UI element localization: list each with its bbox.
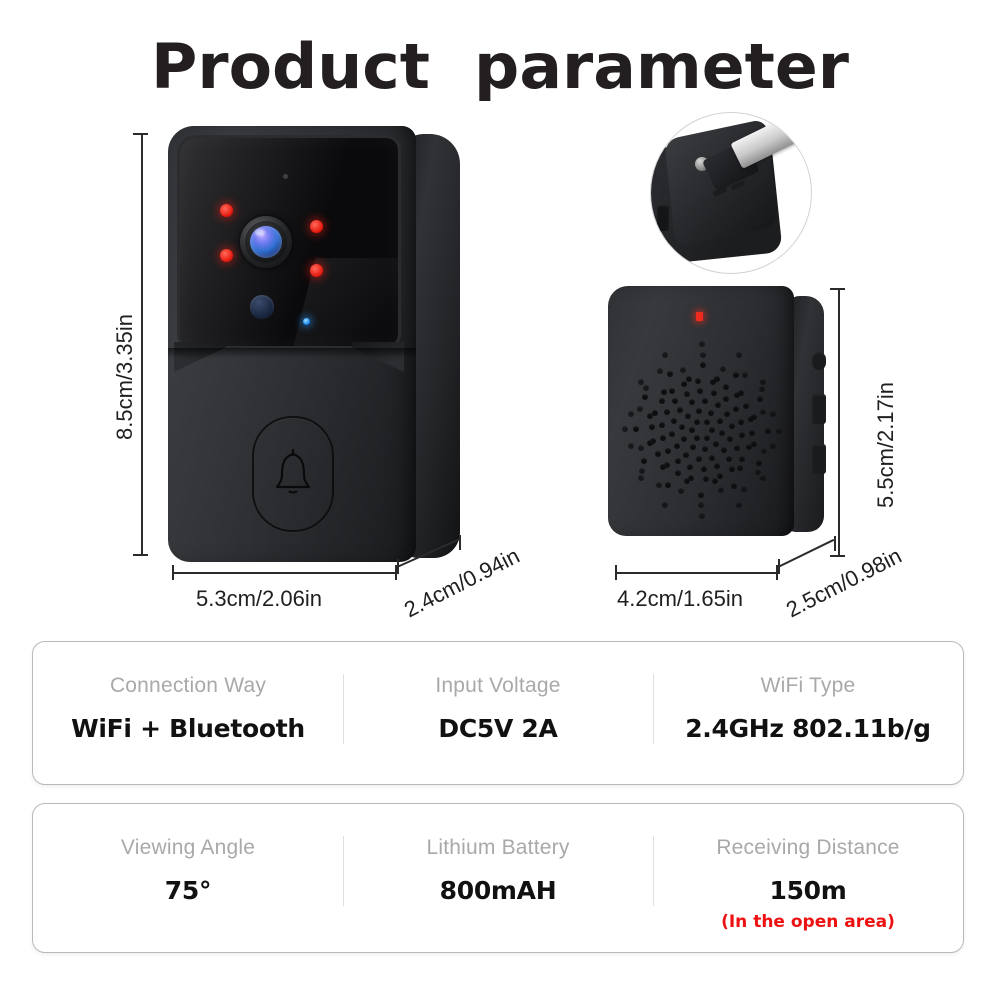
- dimension-cap: [834, 536, 836, 551]
- grille-hole: [660, 464, 666, 470]
- grille-hole: [702, 398, 708, 404]
- grille-hole: [696, 456, 702, 462]
- dimension-cap: [615, 565, 617, 580]
- grille-hole: [674, 443, 680, 449]
- doorbell-width-label: 5.3cm/2.06in: [196, 586, 322, 612]
- spec-cell: Viewing Angle 75°: [33, 804, 343, 952]
- grille-hole: [760, 379, 766, 385]
- grille-hole: [642, 394, 648, 400]
- dimension-cap: [397, 559, 399, 574]
- grille-hole: [712, 478, 718, 484]
- grille-hole: [761, 448, 767, 454]
- grille-hole: [652, 410, 658, 416]
- grille-hole: [687, 464, 693, 470]
- doorbell-glass-panel: [180, 138, 398, 346]
- grille-hole: [723, 384, 729, 390]
- ir-led-icon: [220, 249, 233, 262]
- spec-cell: Connection Way WiFi + Bluetooth: [33, 642, 343, 784]
- spec-cell: Receiving Distance 150m (In the open are…: [653, 804, 963, 952]
- grille-hole: [727, 436, 733, 442]
- doorbell-height-dimension-line: [141, 133, 143, 555]
- grille-hole: [697, 388, 703, 394]
- grille-hole: [669, 388, 675, 394]
- spec-value: DC5V 2A: [438, 714, 557, 743]
- doorbell-front-face: [168, 126, 416, 562]
- grille-hole: [733, 406, 739, 412]
- grille-hole: [703, 476, 709, 482]
- grille-hole: [736, 352, 742, 358]
- grille-hole: [694, 419, 700, 425]
- doorbell-width-dimension-line: [172, 572, 396, 574]
- grille-hole: [718, 487, 724, 493]
- spec-label: Viewing Angle: [121, 836, 255, 860]
- ir-led-icon: [310, 264, 323, 277]
- grille-hole: [756, 460, 762, 466]
- grille-hole: [776, 428, 782, 434]
- dimension-cap: [830, 555, 845, 557]
- grille-hole: [639, 468, 645, 474]
- grille-hole: [657, 368, 663, 374]
- grille-hole: [729, 423, 735, 429]
- grille-hole: [662, 502, 668, 508]
- bell-icon: [270, 448, 316, 498]
- doorbell-height-label: 8.5cm/3.35in: [112, 314, 138, 440]
- grille-hole: [680, 367, 686, 373]
- grille-hole: [749, 430, 755, 436]
- inset-side-button: [657, 205, 669, 231]
- spec-label: Lithium Battery: [426, 836, 569, 860]
- grille-hole: [628, 443, 634, 449]
- grille-hole: [717, 473, 723, 479]
- grille-hole: [665, 482, 671, 488]
- dimension-cap: [133, 554, 148, 556]
- grille-hole: [698, 492, 704, 498]
- grille-hole: [736, 502, 742, 508]
- grille-hole: [690, 444, 696, 450]
- grille-hole: [664, 409, 670, 415]
- grille-hole: [704, 419, 710, 425]
- grille-hole: [751, 441, 757, 447]
- grille-hole: [672, 398, 678, 404]
- grille-hole: [638, 445, 644, 451]
- chime-side-button[interactable]: [812, 352, 826, 370]
- grille-hole: [709, 427, 715, 433]
- dimension-cap: [778, 559, 780, 574]
- grille-hole: [708, 410, 714, 416]
- grille-hole: [731, 483, 737, 489]
- grille-hole: [643, 385, 649, 391]
- grille-hole: [698, 502, 704, 508]
- dimension-cap: [172, 565, 174, 580]
- usb-plug-detail-inset: [650, 112, 812, 274]
- grille-hole: [678, 488, 684, 494]
- grille-hole: [638, 379, 644, 385]
- grille-hole: [661, 389, 667, 395]
- grille-hole: [684, 391, 690, 397]
- grille-hole: [770, 443, 776, 449]
- grille-hole: [695, 378, 701, 384]
- grille-hole: [681, 436, 687, 442]
- dimension-cap: [830, 288, 845, 290]
- grille-hole: [669, 431, 675, 437]
- grille-hole: [681, 381, 687, 387]
- grille-hole: [647, 440, 653, 446]
- grille-hole: [760, 475, 766, 481]
- grille-hole: [742, 372, 748, 378]
- grille-hole: [660, 435, 666, 441]
- spec-note: (In the open area): [721, 912, 895, 932]
- grille-hole: [726, 456, 732, 462]
- grille-hole: [715, 402, 721, 408]
- spec-label: WiFi Type: [761, 674, 856, 698]
- grille-hole: [714, 376, 720, 382]
- grille-hole: [759, 386, 765, 392]
- chime-side-button[interactable]: [812, 394, 826, 424]
- grille-hole: [647, 413, 653, 419]
- chime-receiver-image: [608, 286, 824, 540]
- grille-hole: [734, 445, 740, 451]
- grille-hole: [667, 371, 673, 377]
- grille-hole: [637, 406, 643, 412]
- grille-hole: [628, 411, 634, 417]
- product-parameter-infographic: Product parameter: [0, 0, 1000, 1000]
- chime-height-dimension-line: [838, 288, 840, 556]
- spec-value: 75°: [165, 876, 211, 905]
- grille-hole: [721, 447, 727, 453]
- status-led-icon: [303, 318, 310, 325]
- inset-side-button: [657, 239, 669, 265]
- grille-hole: [709, 455, 715, 461]
- grille-hole: [671, 418, 677, 424]
- spec-value: 800mAH: [440, 876, 557, 905]
- grille-hole: [684, 478, 690, 484]
- grille-hole: [641, 458, 647, 464]
- grille-hole: [729, 466, 735, 472]
- spec-label: Input Voltage: [435, 674, 560, 698]
- grille-hole: [665, 448, 671, 454]
- grille-hole: [638, 475, 644, 481]
- grille-hole: [755, 469, 761, 475]
- chime-side-button[interactable]: [812, 444, 826, 474]
- grille-hole: [686, 376, 692, 382]
- grille-hole: [683, 452, 689, 458]
- grille-hole: [699, 341, 705, 347]
- spec-card: Connection Way WiFi + Bluetooth Input Vo…: [32, 641, 964, 785]
- camera-lens-icon: [240, 216, 292, 268]
- speaker-grille: [616, 338, 788, 522]
- grille-hole: [659, 398, 665, 404]
- grille-hole: [675, 470, 681, 476]
- grille-hole: [765, 428, 771, 434]
- spec-cell: WiFi Type 2.4GHz 802.11b/g: [653, 642, 963, 784]
- doorbell-button[interactable]: [252, 416, 334, 532]
- grille-hole: [724, 411, 730, 417]
- grille-hole: [701, 466, 707, 472]
- grille-hole: [711, 390, 717, 396]
- grille-hole: [675, 458, 681, 464]
- grille-hole: [739, 456, 745, 462]
- ir-led-icon: [220, 204, 233, 217]
- chime-width-label: 4.2cm/1.65in: [617, 586, 743, 612]
- grille-hole: [656, 482, 662, 488]
- grille-hole: [741, 486, 747, 492]
- chime-height-label: 5.5cm/2.17in: [873, 382, 899, 508]
- spec-card: Viewing Angle 75° Lithium Battery 800mAH…: [32, 803, 964, 953]
- grille-hole: [737, 465, 743, 471]
- grille-hole: [685, 413, 691, 419]
- spec-label: Connection Way: [110, 674, 266, 698]
- dimension-cap: [459, 535, 461, 550]
- grille-hole: [717, 418, 723, 424]
- grille-hole: [633, 426, 639, 432]
- grille-hole: [689, 427, 695, 433]
- grille-hole: [743, 403, 749, 409]
- page-title: Product parameter: [0, 30, 1000, 103]
- grille-hole: [713, 441, 719, 447]
- grille-hole: [719, 430, 725, 436]
- grille-hole: [694, 435, 700, 441]
- spec-cell: Input Voltage DC5V 2A: [343, 642, 653, 784]
- grille-hole: [696, 408, 702, 414]
- grille-hole: [662, 352, 668, 358]
- spec-value: 2.4GHz 802.11b/g: [685, 714, 931, 743]
- grille-hole: [720, 366, 726, 372]
- spec-cell: Lithium Battery 800mAH: [343, 804, 653, 952]
- indicator-led-icon: [696, 312, 703, 321]
- grille-hole: [659, 422, 665, 428]
- chime-depth-dimension-line: [778, 539, 834, 568]
- grille-hole: [649, 424, 655, 430]
- grille-hole: [689, 399, 695, 405]
- grille-hole: [714, 463, 720, 469]
- microphone-icon: [283, 174, 288, 179]
- spec-value: WiFi + Bluetooth: [71, 714, 305, 743]
- grille-hole: [723, 396, 729, 402]
- grille-hole: [739, 432, 745, 438]
- spec-value: 150m: [769, 876, 846, 905]
- video-doorbell-image: [168, 126, 460, 566]
- chime-front-face: [608, 286, 794, 536]
- ir-led-icon: [310, 220, 323, 233]
- grille-hole: [677, 407, 683, 413]
- grille-hole: [702, 446, 708, 452]
- grille-hole: [757, 396, 763, 402]
- grille-hole: [733, 372, 739, 378]
- doorbell-body-shading: [168, 348, 416, 358]
- pir-sensor-icon: [250, 295, 274, 319]
- grille-hole: [700, 362, 706, 368]
- grille-hole: [622, 426, 628, 432]
- grille-hole: [738, 390, 744, 396]
- grille-hole: [700, 352, 706, 358]
- grille-hole: [760, 409, 766, 415]
- grille-hole: [679, 424, 685, 430]
- grille-hole: [699, 513, 705, 519]
- grille-hole: [751, 414, 757, 420]
- grille-hole: [704, 435, 710, 441]
- grille-hole: [738, 419, 744, 425]
- dimension-cap: [133, 133, 148, 135]
- grille-hole: [655, 451, 661, 457]
- grille-hole: [770, 411, 776, 417]
- spec-label: Receiving Distance: [716, 836, 899, 860]
- chime-width-dimension-line: [615, 572, 777, 574]
